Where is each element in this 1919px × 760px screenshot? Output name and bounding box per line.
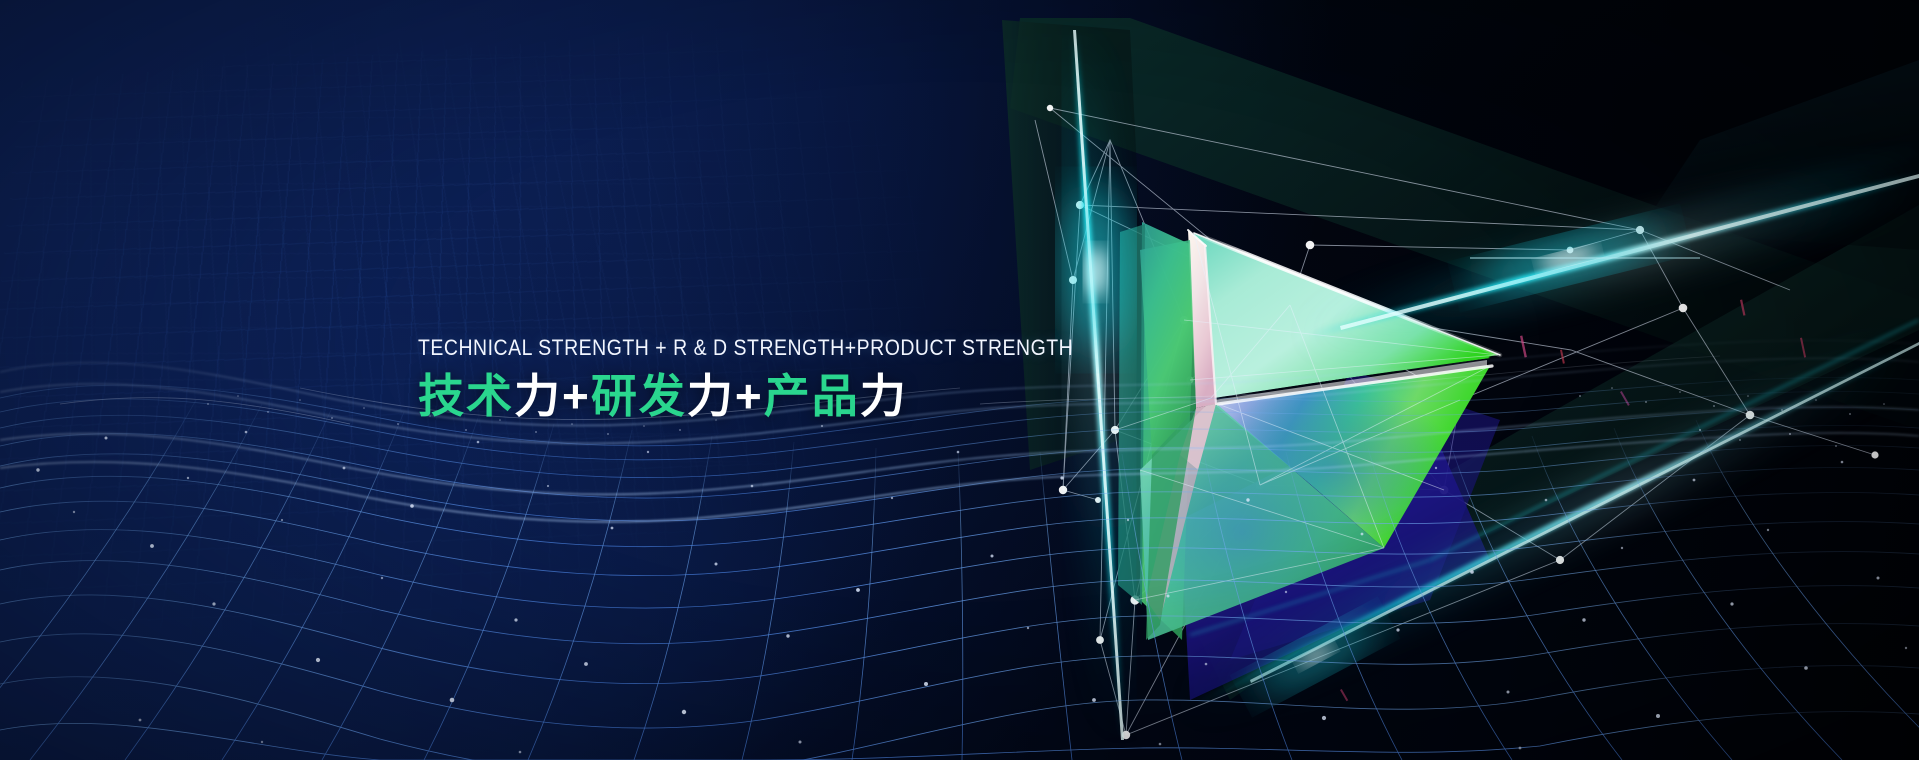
headline-block: TECHNICAL STRENGTH + R & D STRENGTH+PROD… xyxy=(418,336,1038,423)
headline-chinese-segment-1: 力 xyxy=(514,370,562,422)
headline-chinese-segment-2: + xyxy=(562,370,591,422)
headline-chinese-segment-3: 研发 xyxy=(591,370,687,422)
headline-english: TECHNICAL STRENGTH + R & D STRENGTH+PROD… xyxy=(418,336,954,361)
hero-banner: TECHNICAL STRENGTH + R & D STRENGTH+PROD… xyxy=(0,0,1919,760)
headline-chinese-segment-7: 力 xyxy=(860,370,908,422)
headline-chinese-segment-0: 技术 xyxy=(418,370,514,422)
headline-chinese-segment-6: 产品 xyxy=(764,370,860,422)
headline-chinese-segment-4: 力 xyxy=(687,370,735,422)
headline-chinese-segment-5: + xyxy=(735,370,764,422)
headline-chinese: 技术力+研发力+产品力 xyxy=(418,370,1038,423)
